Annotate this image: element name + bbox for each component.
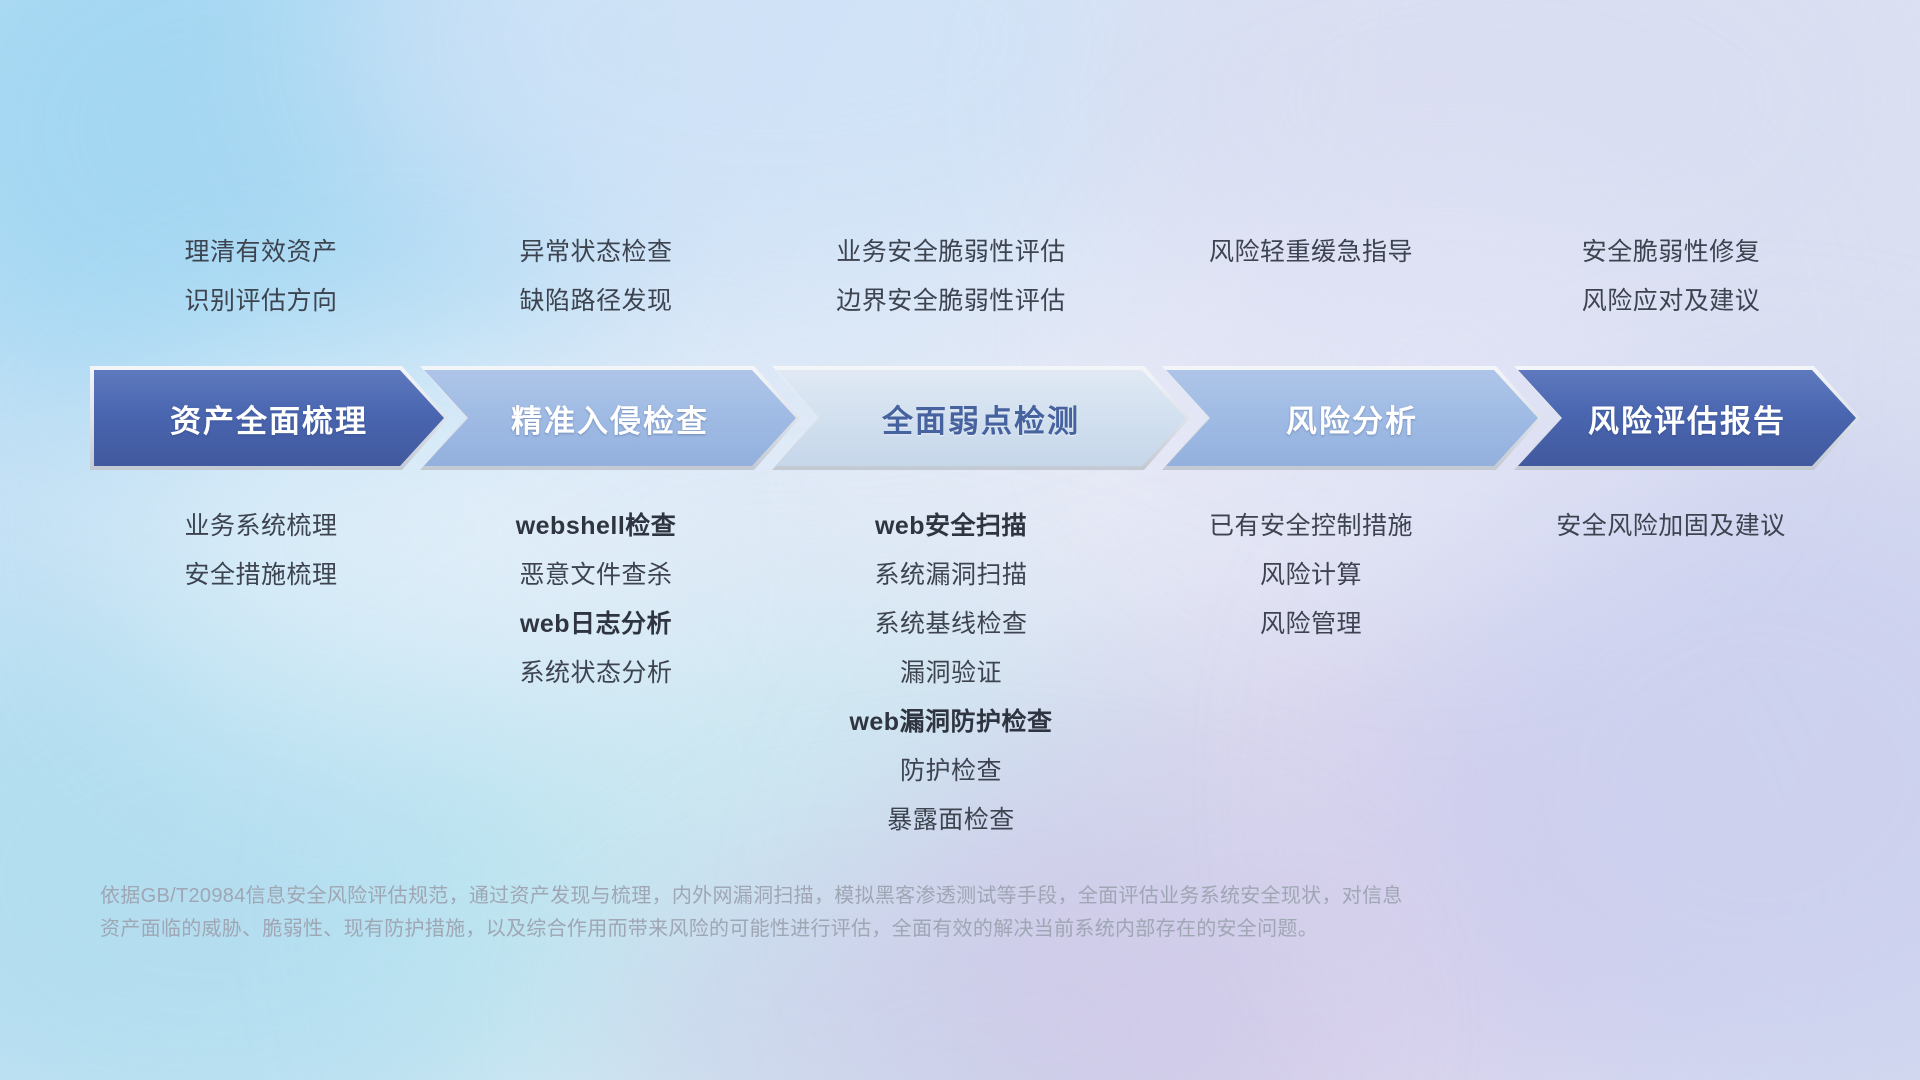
top-item: 安全脆弱性修复: [1486, 228, 1856, 277]
bottom-item: 已有安全控制措施: [1136, 502, 1486, 551]
footer-line-1: 依据GB/T20984信息安全风险评估规范，通过资产发现与梳理，内外网漏洞扫描，…: [100, 880, 1620, 913]
stage-title: 风险分析: [1286, 396, 1418, 441]
bottom-item: 恶意文件查杀: [426, 551, 766, 600]
top-item: 业务安全脆弱性评估: [766, 228, 1136, 277]
bottom-item: web安全扫描: [766, 502, 1136, 551]
bottom-item: 系统漏洞扫描: [766, 551, 1136, 600]
bottom-label-row: 业务系统梳理 安全措施梳理 webshell检查 恶意文件查杀 web日志分析 …: [96, 502, 1856, 845]
stage-chevron-5[interactable]: 风险评估报告: [1514, 366, 1860, 470]
bottom-column-5: 安全风险加固及建议: [1486, 502, 1856, 551]
bottom-item: webshell检查: [426, 502, 766, 551]
stage-title: 全面弱点检测: [882, 396, 1080, 441]
top-item: 异常状态检查: [426, 228, 766, 277]
bottom-column-2: webshell检查 恶意文件查杀 web日志分析 系统状态分析: [426, 502, 766, 698]
stage-title: 风险评估报告: [1588, 396, 1786, 441]
top-column-2: 异常状态检查 缺陷路径发现: [426, 228, 766, 326]
bottom-column-3: web安全扫描 系统漏洞扫描 系统基线检查 漏洞验证 web漏洞防护检查 防护检…: [766, 502, 1136, 845]
stage-chevron-1[interactable]: 资产全面梳理: [90, 366, 448, 470]
footer-description: 依据GB/T20984信息安全风险评估规范，通过资产发现与梳理，内外网漏洞扫描，…: [100, 880, 1620, 946]
stage-chevron-3[interactable]: 全面弱点检测: [772, 366, 1190, 470]
top-item: 边界安全脆弱性评估: [766, 277, 1136, 326]
bottom-column-1: 业务系统梳理 安全措施梳理: [96, 502, 426, 600]
top-label-row: 理清有效资产 识别评估方向 异常状态检查 缺陷路径发现 业务安全脆弱性评估 边界…: [96, 228, 1856, 326]
stage-title: 精准入侵检查: [511, 396, 709, 441]
bottom-item: 系统状态分析: [426, 649, 766, 698]
top-item: 风险轻重缓急指导: [1136, 228, 1486, 277]
footer-line-2: 资产面临的威胁、脆弱性、现有防护措施，以及综合作用而带来风险的可能性进行评估，全…: [100, 913, 1620, 946]
bottom-item: 业务系统梳理: [96, 502, 426, 551]
bottom-item: 防护检查: [766, 747, 1136, 796]
top-column-4: 风险轻重缓急指导: [1136, 228, 1486, 326]
top-item: 缺陷路径发现: [426, 277, 766, 326]
process-diagram: 理清有效资产 识别评估方向 异常状态检查 缺陷路径发现 业务安全脆弱性评估 边界…: [0, 0, 1920, 1080]
bottom-item: web日志分析: [426, 600, 766, 649]
bottom-item: 安全风险加固及建议: [1486, 502, 1856, 551]
top-column-5: 安全脆弱性修复 风险应对及建议: [1486, 228, 1856, 326]
top-item: 理清有效资产: [96, 228, 426, 277]
top-item: 识别评估方向: [96, 277, 426, 326]
top-item: 风险应对及建议: [1486, 277, 1856, 326]
bottom-item: web漏洞防护检查: [766, 698, 1136, 747]
bottom-item: 系统基线检查: [766, 600, 1136, 649]
stage-chevron-2[interactable]: 精准入侵检查: [420, 366, 800, 470]
top-column-3: 业务安全脆弱性评估 边界安全脆弱性评估: [766, 228, 1136, 326]
stage-chevron-4[interactable]: 风险分析: [1162, 366, 1542, 470]
bottom-item: 安全措施梳理: [96, 551, 426, 600]
stage-chevron-band: 资产全面梳理 精准入侵检查 全面弱点检测 风险分析 风险评估报告: [90, 366, 1860, 470]
bottom-item: 风险计算: [1136, 551, 1486, 600]
bottom-item: 暴露面检查: [766, 796, 1136, 845]
top-column-1: 理清有效资产 识别评估方向: [96, 228, 426, 326]
bottom-item: 漏洞验证: [766, 649, 1136, 698]
stage-title: 资产全面梳理: [170, 396, 368, 441]
bottom-column-4: 已有安全控制措施 风险计算 风险管理: [1136, 502, 1486, 649]
bottom-item: 风险管理: [1136, 600, 1486, 649]
